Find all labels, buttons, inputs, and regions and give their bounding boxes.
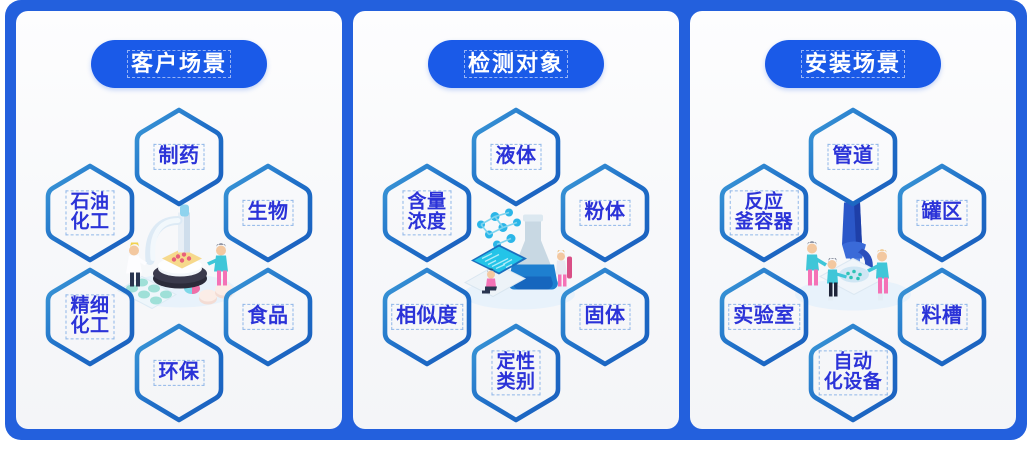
hex-laboratory[interactable]: 实验室 [714, 265, 814, 369]
hex-label-line: 食品 [248, 306, 289, 327]
hex-label: 制药 [154, 144, 205, 170]
hex-label-line: 自动 [824, 352, 883, 372]
hex-pharmaceutical[interactable]: 制药 [129, 105, 229, 209]
hex-tank-farm[interactable]: 罐区 [892, 161, 992, 265]
hex-label-line: 环保 [159, 362, 200, 383]
hex-label-line: 反应 [735, 192, 794, 212]
panel-title-pill-customer-scenario[interactable]: 客户场景 [91, 40, 267, 88]
hexagon-cluster-customer-scenario: 制药石油化工生物精细化工食品环保 [29, 107, 329, 407]
hex-label: 液体 [491, 144, 542, 170]
hex-similarity[interactable]: 相似度 [377, 265, 477, 369]
hex-pipeline[interactable]: 管道 [803, 105, 903, 209]
hex-label-line: 制药 [159, 146, 200, 167]
hex-reactor-vessel[interactable]: 反应釜容器 [714, 161, 814, 265]
hex-label: 自动化设备 [819, 350, 888, 395]
hex-label-line: 化设备 [824, 373, 883, 393]
hex-label-line: 相似度 [396, 306, 458, 327]
panel-title-text: 安装场景 [801, 50, 905, 78]
hex-label-line: 罐区 [922, 202, 963, 223]
hex-label-line: 石油 [70, 192, 109, 212]
hex-label-line: 料槽 [922, 306, 963, 327]
hex-label: 相似度 [391, 304, 463, 330]
hex-label: 料槽 [917, 304, 968, 330]
hex-petrochemical[interactable]: 石油化工 [40, 161, 140, 265]
hex-label: 石油化工 [65, 190, 114, 235]
hex-label-line: 浓度 [407, 213, 446, 233]
hex-label: 含量浓度 [402, 190, 451, 235]
hex-biology[interactable]: 生物 [218, 161, 318, 265]
hex-liquid[interactable]: 液体 [466, 105, 566, 209]
hex-label-line: 化工 [70, 317, 109, 337]
hex-food[interactable]: 食品 [218, 265, 318, 369]
hexagon-cluster-detection-target: 液体含量浓度粉体相似度固体定性类别 [366, 107, 666, 407]
hex-label: 管道 [828, 144, 879, 170]
hex-label: 固体 [580, 304, 631, 330]
hex-label: 环保 [154, 360, 205, 386]
panel-detection-target: 检测对象液体含量浓度粉体相似度固体定性类别 [353, 11, 679, 429]
hex-label: 粉体 [580, 200, 631, 226]
panel-title-text: 客户场景 [127, 50, 231, 78]
hex-label-line: 类别 [496, 373, 535, 393]
hex-content-concentration[interactable]: 含量浓度 [377, 161, 477, 265]
panel-customer-scenario: 客户场景制药石油化工生物精细化工食品环保 [16, 11, 342, 429]
panel-title-text: 检测对象 [464, 50, 568, 78]
hex-label-line: 固体 [585, 306, 626, 327]
hex-label: 反应釜容器 [730, 190, 799, 235]
hex-label: 定性类别 [491, 350, 540, 395]
hex-label-line: 生物 [248, 202, 289, 223]
panel-row: 客户场景制药石油化工生物精细化工食品环保检测对象液体含量浓度粉体相似度固体定性类… [5, 0, 1027, 440]
panel-title-pill-installation-scenario[interactable]: 安装场景 [765, 40, 941, 88]
hex-material-trough[interactable]: 料槽 [892, 265, 992, 369]
hex-environmental[interactable]: 环保 [129, 321, 229, 425]
hex-label-line: 液体 [496, 146, 537, 167]
hex-label-line: 化工 [70, 213, 109, 233]
hex-solid[interactable]: 固体 [555, 265, 655, 369]
hex-label: 食品 [243, 304, 294, 330]
hex-label: 实验室 [728, 304, 800, 330]
hex-label: 罐区 [917, 200, 968, 226]
hexagon-cluster-installation-scenario: 管道反应釜容器罐区实验室料槽自动化设备 [703, 107, 1003, 407]
hex-fine-chemical[interactable]: 精细化工 [40, 265, 140, 369]
panel-installation-scenario: 安装场景管道反应釜容器罐区实验室料槽自动化设备 [690, 11, 1016, 429]
hex-label-line: 定性 [496, 352, 535, 372]
hex-label-line: 釜容器 [735, 213, 794, 233]
hex-qualitative-category[interactable]: 定性类别 [466, 321, 566, 425]
hex-label-line: 管道 [833, 146, 874, 167]
infographic-root: 客户场景制药石油化工生物精细化工食品环保检测对象液体含量浓度粉体相似度固体定性类… [0, 0, 1027, 456]
hex-powder[interactable]: 粉体 [555, 161, 655, 265]
hex-label-line: 实验室 [733, 306, 795, 327]
hex-label-line: 含量 [407, 192, 446, 212]
hex-label-line: 粉体 [585, 202, 626, 223]
hex-label: 精细化工 [65, 294, 114, 339]
hex-label: 生物 [243, 200, 294, 226]
hex-label-line: 精细 [70, 296, 109, 316]
hex-automation-equipment[interactable]: 自动化设备 [803, 321, 903, 425]
panel-title-pill-detection-target[interactable]: 检测对象 [428, 40, 604, 88]
